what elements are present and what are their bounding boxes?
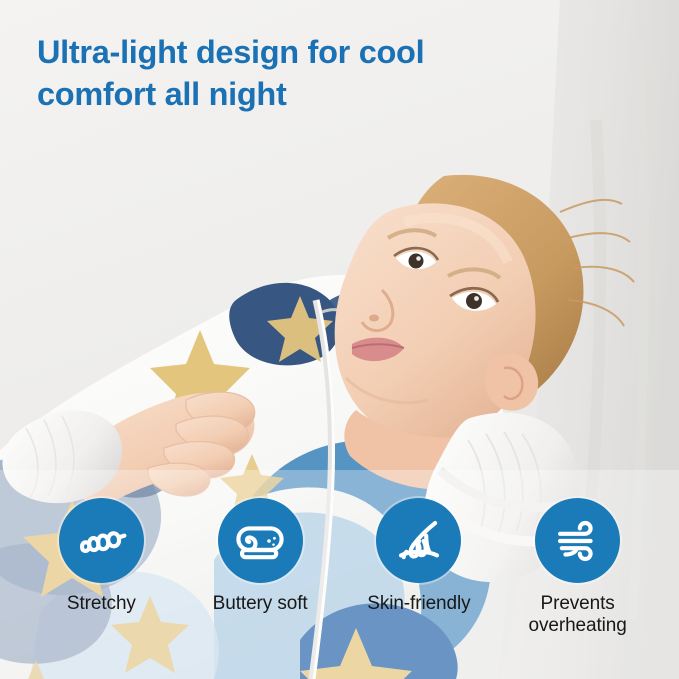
feature-item-buttery-soft: Buttery soft <box>181 498 340 615</box>
page-title: Ultra-light design for cool comfort all … <box>37 32 557 115</box>
feature-label: Prevents overheating <box>529 593 627 638</box>
feature-item-skin-friendly: Skin-friendly <box>340 498 499 615</box>
marketing-banner: Ultra-light design for cool comfort all … <box>0 0 679 679</box>
spring-coil-icon <box>59 498 144 583</box>
feature-label: Buttery soft <box>213 593 308 615</box>
feature-label: Skin-friendly <box>367 593 470 615</box>
feature-item-prevents-overheating: Prevents overheating <box>498 498 657 638</box>
rolled-fabric-icon <box>218 498 303 583</box>
feature-label: Stretchy <box>67 593 136 615</box>
feature-item-stretchy: Stretchy <box>22 498 181 615</box>
hand-on-fabric-icon <box>376 498 461 583</box>
airflow-wind-icon <box>535 498 620 583</box>
feature-list: Stretchy Buttery soft <box>0 498 679 679</box>
